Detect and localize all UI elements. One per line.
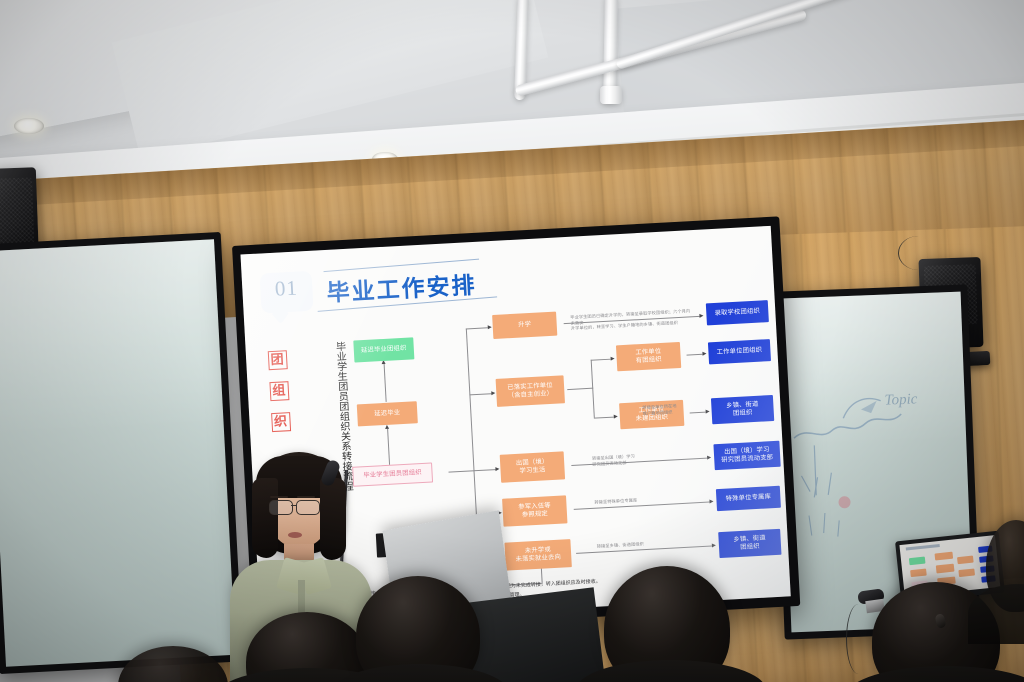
annotation: 转接至单位所在地 或户籍地团组织 [642, 402, 699, 416]
annotation: 转接至出国（境）学习 研究团员流动支部 [592, 452, 663, 467]
connector-arrow [491, 391, 495, 395]
ceiling-downlight [14, 118, 44, 134]
connector [469, 393, 491, 395]
conference-room-photo: Topic 01 毕业工作安排 团 组 织 [0, 0, 1024, 682]
flow-node-result: 乡镇、街道 团组织 [711, 395, 774, 424]
connector [473, 469, 495, 471]
flow-node: 延迟毕业团组织 [353, 337, 414, 362]
connector [384, 364, 387, 402]
red-char-tuan: 团 [267, 350, 287, 370]
presenter-hair-right [320, 478, 346, 560]
glasses-bridge [291, 505, 297, 506]
connector-arrow [709, 499, 713, 503]
camera-cable [846, 604, 871, 674]
connector-arrow [699, 313, 703, 317]
connector [466, 327, 488, 329]
vertical-red-label: 团 组 织 [266, 350, 292, 432]
flow-node: 已落实工作单位 （含自主创业） [496, 375, 565, 407]
flow-node: 工作单位 有团组织 [616, 342, 681, 371]
monitor-title-line [906, 544, 940, 551]
connector-arrow [488, 325, 492, 329]
speaker-cable [898, 236, 939, 270]
monitor-node [936, 564, 955, 574]
red-char-zu: 组 [269, 381, 289, 401]
monitor-node [958, 568, 975, 577]
whiteboard-gloss [0, 239, 224, 438]
connector [591, 359, 611, 361]
flow-node: 出国（境） 学习生活 [500, 451, 565, 482]
monitor-node [957, 556, 974, 565]
flow-node-result: 乡镇、街道 团组织 [718, 529, 781, 558]
monitor-node [910, 569, 927, 578]
presenter-mouth [288, 532, 302, 538]
connector-arrow [712, 543, 716, 547]
presenter-eyebrow-left [270, 496, 288, 498]
svg-text:Topic: Topic [884, 391, 918, 408]
flow-node: 参军入伍等 参照规定 [502, 495, 567, 526]
slide-title: 毕业工作安排 [326, 266, 478, 308]
flow-node: 未升学或 未落实就业去向 [504, 539, 571, 571]
connector-arrow [707, 455, 711, 459]
whiteboard-surface [0, 239, 236, 666]
connector [591, 360, 595, 418]
presenter-eyebrow-right [297, 496, 315, 498]
connector-arrow [384, 425, 388, 429]
ceiling-pipe-joint [600, 86, 622, 104]
section-number: 01 [262, 275, 311, 303]
annotation: 毕业学生团员已确定升学的，转接至录取学校团组织；六个月内未落实 升学单位的，转至… [570, 308, 695, 332]
whiteboard-left [0, 232, 243, 674]
flow-node-result: 录取学校团组织 [706, 300, 769, 325]
red-char-zhi: 织 [271, 412, 291, 432]
whiteboard-marker-drawing: Topic [782, 339, 980, 556]
flow-node: 毕业学生团员团组织 [352, 463, 433, 487]
flow-node: 升学 [492, 312, 557, 339]
connector [387, 429, 390, 465]
connector-arrow [614, 414, 618, 418]
connector-arrow [611, 356, 615, 360]
connector [567, 388, 593, 391]
connector-trunk [449, 470, 475, 473]
monitor-node [909, 557, 926, 566]
connector [594, 417, 614, 419]
flow-node: 延迟毕业 [357, 401, 418, 426]
connector-arrow [495, 466, 499, 470]
flow-node-result: 出国（境）学习 研究团员流动支部 [713, 441, 780, 471]
glasses-lens-left [269, 500, 293, 515]
monitor-node [935, 552, 954, 561]
presenter-hair-left [252, 478, 278, 558]
flow-node-result: 特殊单位专属库 [716, 486, 781, 511]
glasses-lens-right [296, 500, 320, 515]
connector-arrow [706, 409, 710, 413]
